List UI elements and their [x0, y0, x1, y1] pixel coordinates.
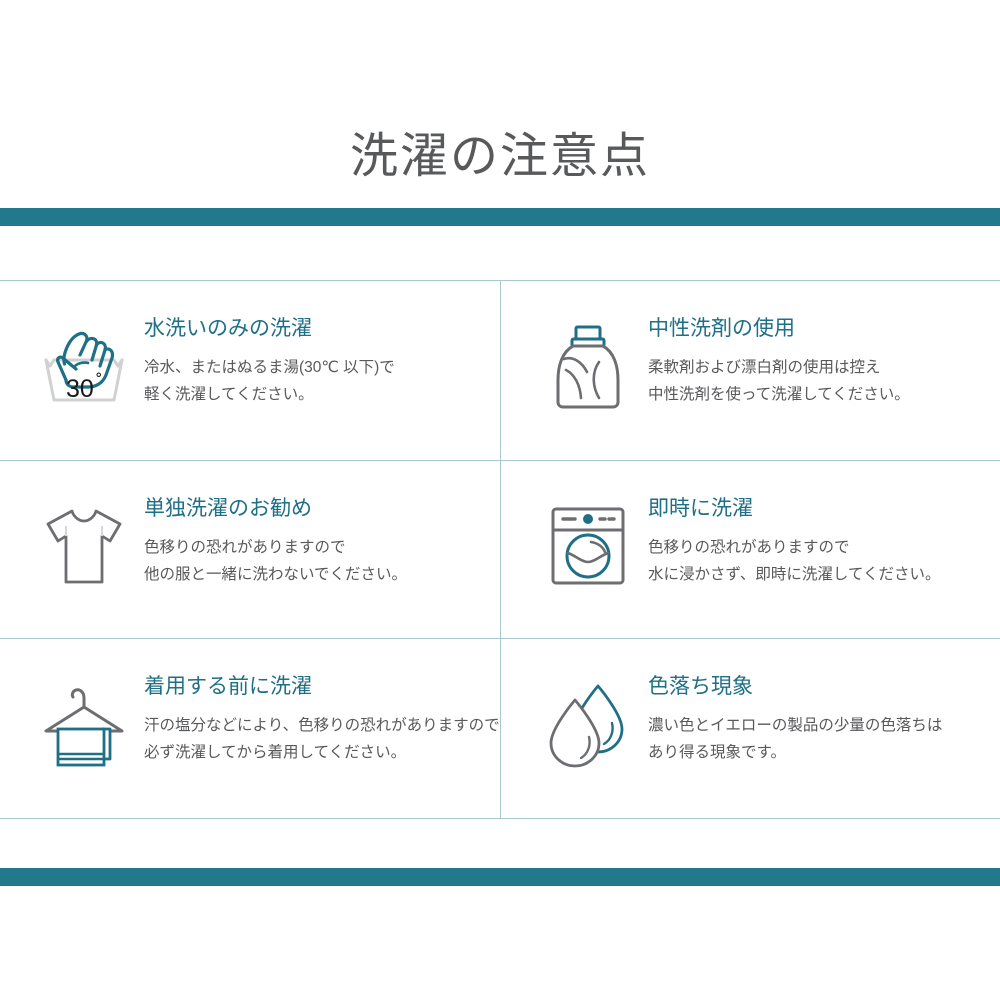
washing-machine-icon	[536, 494, 640, 598]
card-body-line: 中性洗剤を使って洗濯してください。	[648, 381, 910, 408]
care-card-separate-wash: 単独洗濯のお勧め 色移りの恐れがありますので 他の服と一緒に洗わないでください。	[0, 460, 500, 638]
card-body-line: 濃い色とイエローの製品の少量の色落ちは	[648, 712, 942, 739]
care-card-color-bleeding: 色落ち現象 濃い色とイエローの製品の少量の色落ちは あり得る現象です。	[500, 638, 1000, 818]
card-heading: 即時に洗濯	[648, 496, 941, 522]
tshirt-icon	[32, 494, 136, 598]
care-card-wash-before-wear: 着用する前に洗濯 汗の塩分などにより、色移りの恐れがありますので 必ず洗濯してか…	[0, 638, 500, 818]
care-card-text: 着用する前に洗濯 汗の塩分などにより、色移りの恐れがありますので 必ず洗濯してか…	[144, 674, 500, 767]
care-card-text: 中性洗剤の使用 柔軟剤および漂白剤の使用は控え 中性洗剤を使って洗濯してください…	[648, 316, 910, 409]
care-card-text: 水洗いのみの洗濯 冷水、またはぬるま湯(30℃ 以下)で 軽く洗濯してください。	[144, 316, 395, 409]
hanger-towel-icon	[32, 672, 136, 776]
card-heading: 色落ち現象	[648, 674, 942, 700]
card-body-line: 水に浸かさず、即時に洗濯してください。	[648, 561, 941, 588]
card-heading: 水洗いのみの洗濯	[144, 316, 395, 342]
card-heading: 中性洗剤の使用	[648, 316, 910, 342]
card-body-line: 柔軟剤および漂白剤の使用は控え	[648, 354, 910, 381]
basin-temperature-label: 30	[66, 375, 94, 403]
card-body-line: 汗の塩分などにより、色移りの恐れがありますので	[144, 712, 500, 739]
laundry-care-page: 洗濯の注意点	[0, 0, 1000, 1000]
care-instruction-grid: 30 ˚ 水洗いのみの洗濯 冷水、またはぬるま湯(30℃ 以下)で 軽く洗濯して…	[0, 280, 1000, 819]
hand-wash-basin-30-icon: 30 ˚	[32, 314, 136, 418]
grid-divider-bottom	[0, 818, 1000, 819]
card-body-line: 必ず洗濯してから着用してください。	[144, 739, 500, 766]
card-body-line: 色移りの恐れがありますので	[648, 534, 941, 561]
care-card-text: 即時に洗濯 色移りの恐れがありますので 水に浸かさず、即時に洗濯してください。	[648, 496, 941, 589]
page-title: 洗濯の注意点	[0, 128, 1000, 186]
bottom-accent-bar	[0, 868, 1000, 886]
care-card-neutral-detergent: 中性洗剤の使用 柔軟剤および漂白剤の使用は控え 中性洗剤を使って洗濯してください…	[500, 280, 1000, 460]
care-card-text: 色落ち現象 濃い色とイエローの製品の少量の色落ちは あり得る現象です。	[648, 674, 942, 767]
care-card-text: 単独洗濯のお勧め 色移りの恐れがありますので 他の服と一緒に洗わないでください。	[144, 496, 407, 589]
detergent-bottle-icon	[536, 314, 640, 418]
care-card-immediate-wash: 即時に洗濯 色移りの恐れがありますので 水に浸かさず、即時に洗濯してください。	[500, 460, 1000, 638]
top-accent-bar	[0, 208, 1000, 226]
card-body-line: 軽く洗濯してください。	[144, 381, 395, 408]
card-body-line: あり得る現象です。	[648, 739, 942, 766]
water-drops-icon	[536, 672, 640, 776]
card-body-line: 冷水、またはぬるま湯(30℃ 以下)で	[144, 354, 395, 381]
card-heading: 着用する前に洗濯	[144, 674, 500, 700]
card-body-line: 色移りの恐れがありますので	[144, 534, 407, 561]
care-card-hand-wash: 30 ˚ 水洗いのみの洗濯 冷水、またはぬるま湯(30℃ 以下)で 軽く洗濯して…	[0, 280, 500, 460]
card-body-line: 他の服と一緒に洗わないでください。	[144, 561, 407, 588]
card-heading: 単独洗濯のお勧め	[144, 496, 407, 522]
basin-degree-symbol: ˚	[96, 372, 102, 393]
